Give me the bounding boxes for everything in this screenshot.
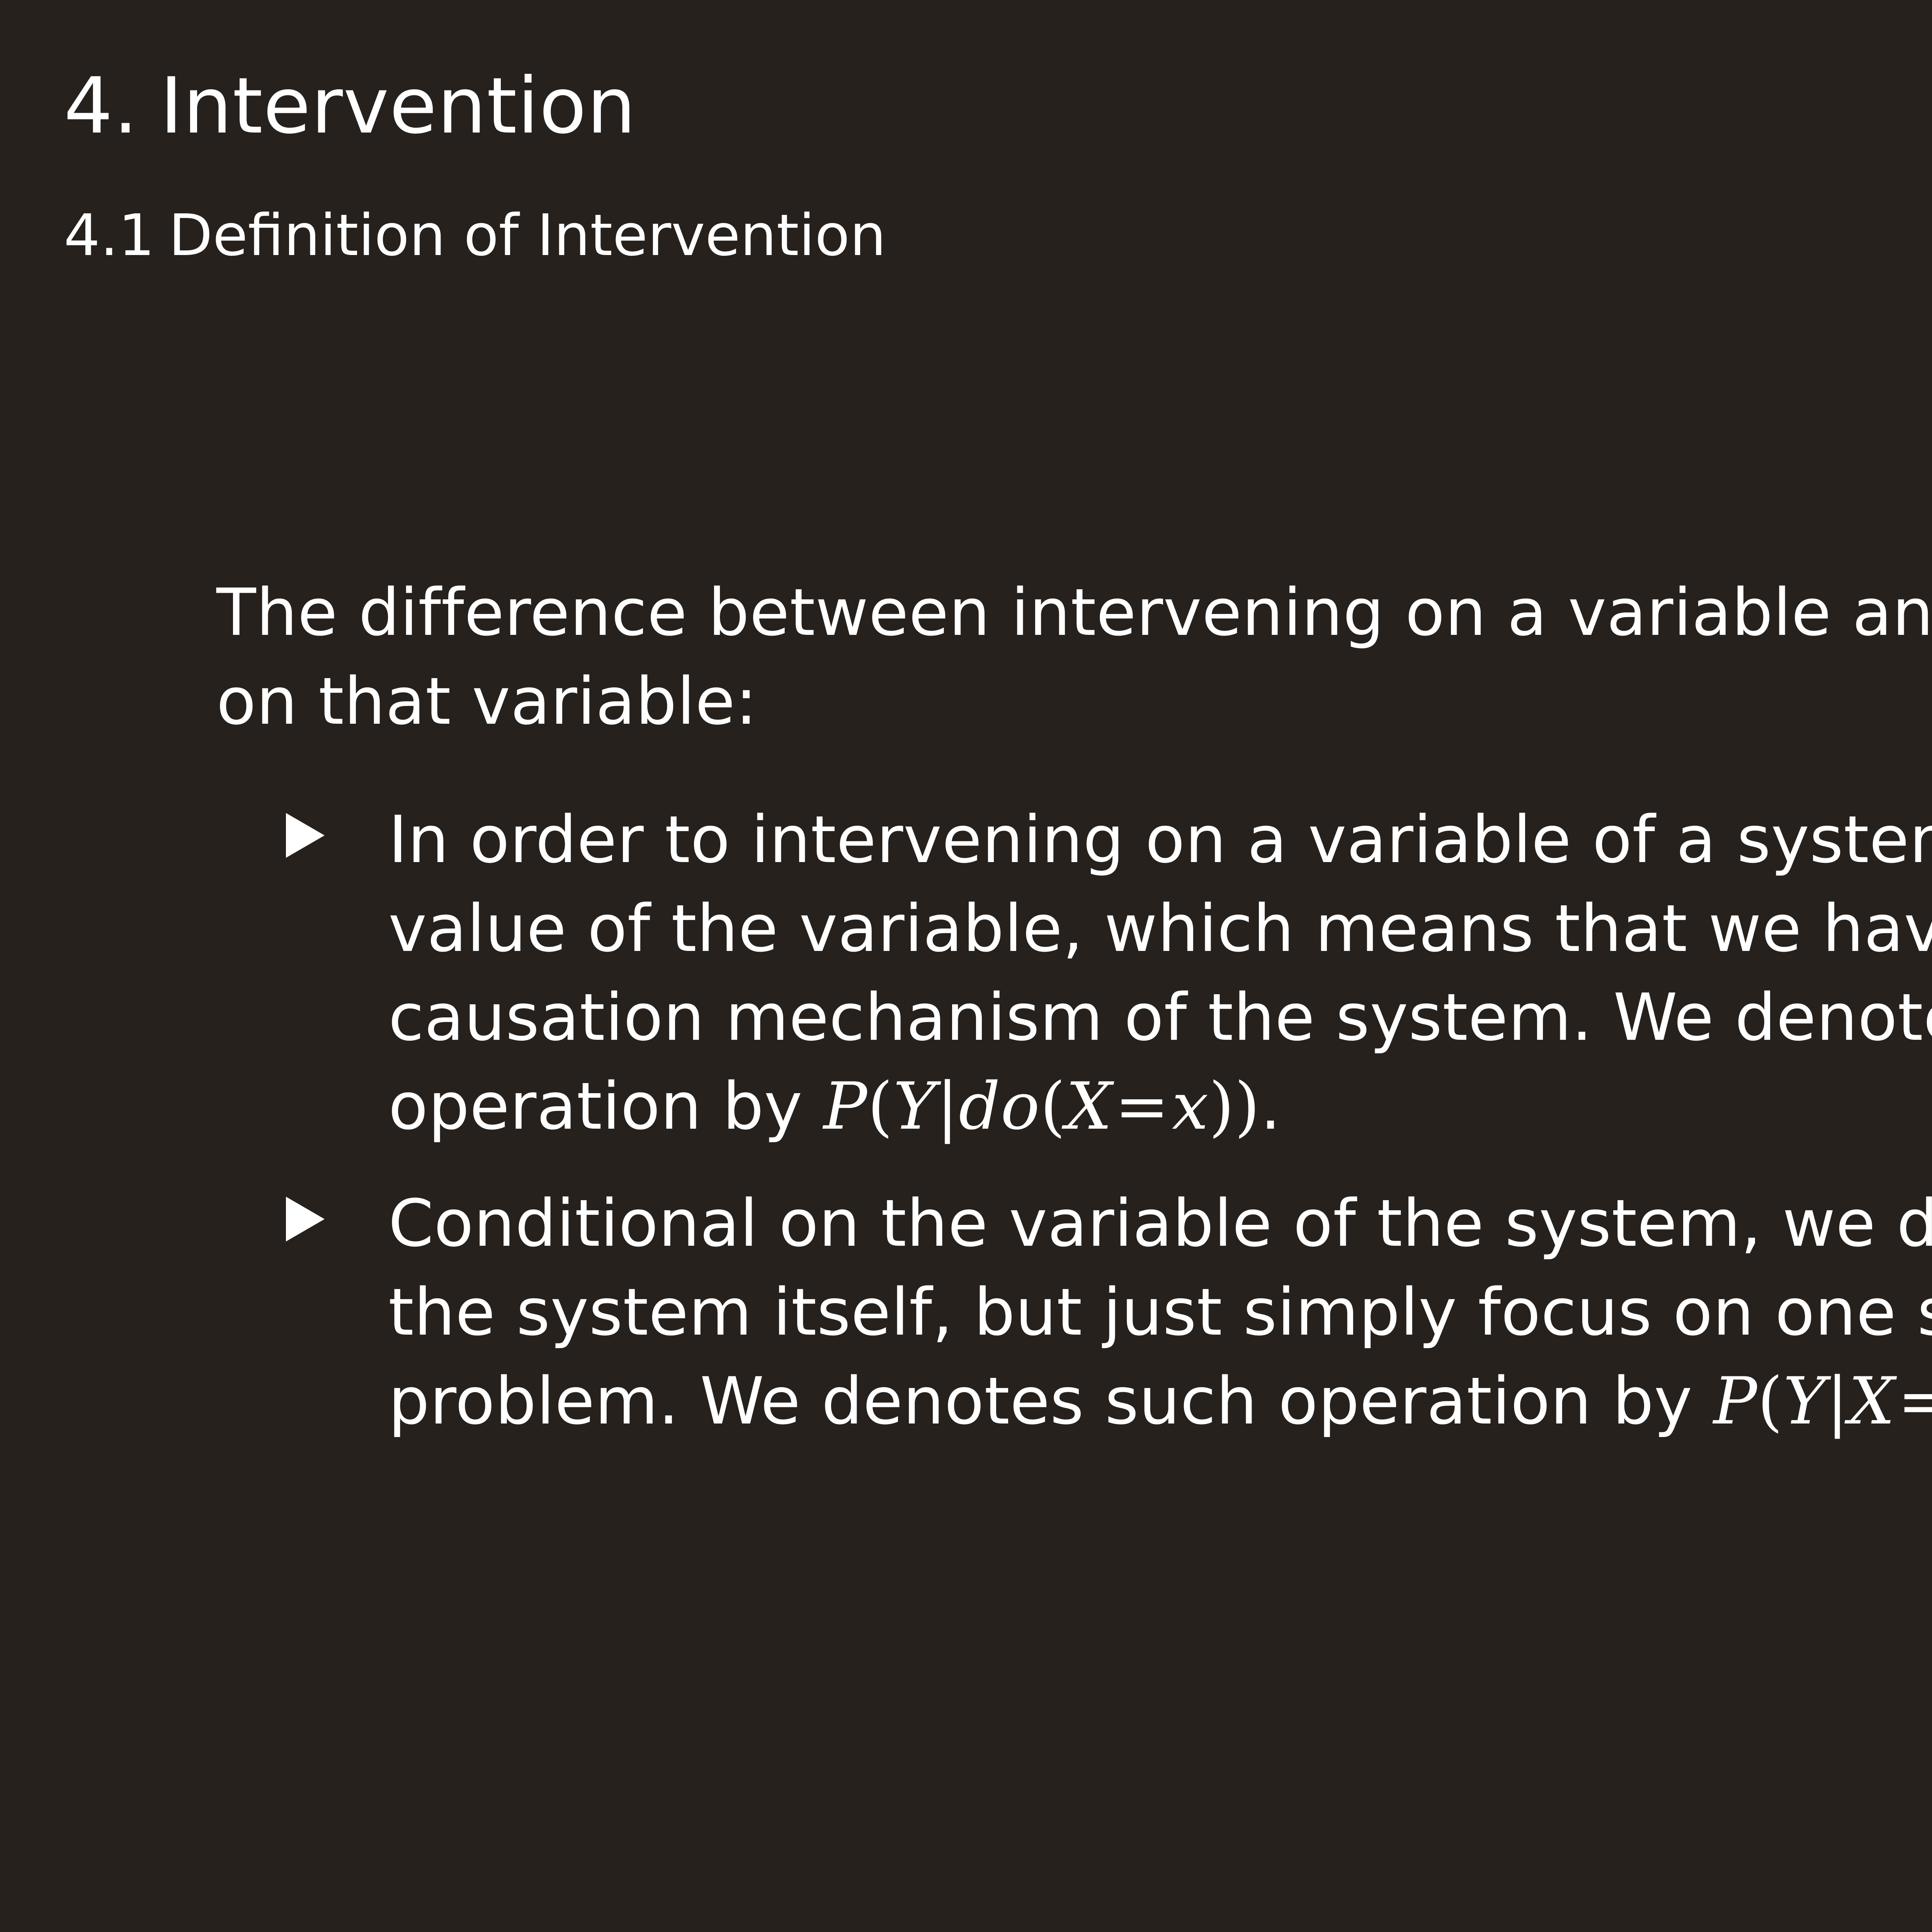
formula-do-operator: P(Y|do(X=x)) (823, 1068, 1260, 1144)
intro-line-2: on that variable: (216, 657, 1932, 746)
page-subtitle: 4.1Definition of Intervention (64, 207, 886, 264)
subtitle-text: Definition of Intervention (168, 202, 886, 269)
triangle-bullet-icon (286, 813, 325, 858)
bullet-2-line-3: problem. We denotes such operation by P(… (388, 1357, 1932, 1446)
bullet-1-line-1: In order to intervening on a variable of… (388, 795, 1932, 884)
subtitle-number: 4.1 (64, 202, 155, 269)
bullet-2-line-3-prefix: problem. We denotes such operation by (388, 1363, 1713, 1439)
bullet-1-period: . (1260, 1068, 1281, 1144)
bullet-1-line-4-prefix: operation by (388, 1068, 823, 1144)
bullet-list: In order to intervening on a variable of… (286, 795, 1932, 1473)
list-item-text: In order to intervening on a variable of… (388, 795, 1932, 1151)
list-item: In order to intervening on a variable of… (286, 795, 1932, 1151)
intro-line-1: The difference between intervening on a … (216, 575, 1932, 650)
intro-paragraph: The difference between intervening on a … (216, 568, 1932, 746)
bullet-1-line-2: value of the variable, which means that … (388, 884, 1932, 973)
title-text: Intervention (160, 61, 636, 151)
bullet-2-line-1: Conditional on the variable of the syste… (388, 1179, 1932, 1268)
list-item: Conditional on the variable of the syste… (286, 1179, 1932, 1446)
formula-conditional: P(Y|X=x)) (1713, 1363, 1932, 1439)
bullet-1-line-3: causation mechanism of the system. We de… (388, 973, 1932, 1062)
list-item-text: Conditional on the variable of the syste… (388, 1179, 1932, 1446)
triangle-bullet-icon (286, 1197, 325, 1242)
bullet-1-line-4: operation by P(Y|do(X=x)). (388, 1062, 1932, 1151)
title-number: 4. (64, 61, 138, 151)
page-title: 4.Intervention (64, 68, 636, 145)
bullet-2-line-2: the system itself, but just simply focus… (388, 1268, 1932, 1357)
